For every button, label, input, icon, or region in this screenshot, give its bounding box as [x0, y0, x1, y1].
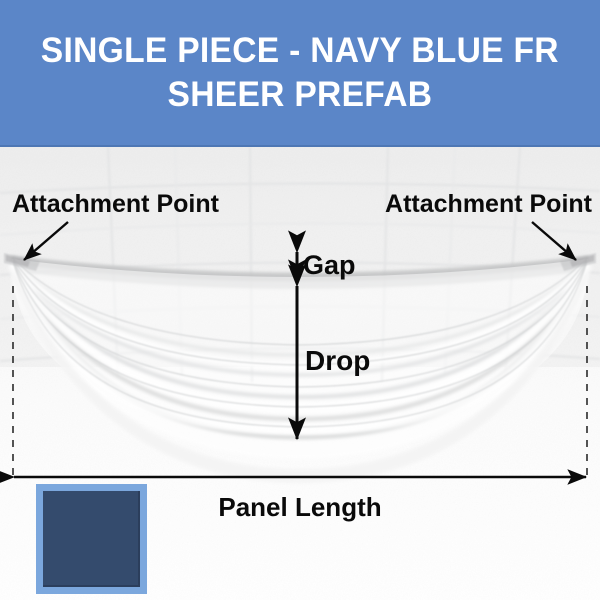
label-attachment-point-right: Attachment Point [385, 190, 592, 219]
label-drop: Drop [305, 345, 370, 377]
product-diagram-page: SINGLE PIECE - NAVY BLUE FR SHEER PREFAB [0, 0, 600, 600]
swatch-fill [43, 491, 140, 587]
page-title-line-1: SINGLE PIECE - NAVY BLUE FR [41, 29, 559, 73]
label-attachment-point-left: Attachment Point [12, 190, 219, 219]
navy-blue-fabric-swatch [36, 484, 147, 594]
header-banner: SINGLE PIECE - NAVY BLUE FR SHEER PREFAB [0, 0, 600, 147]
label-gap: Gap [303, 250, 356, 281]
page-title-line-2: SHEER PREFAB [168, 73, 433, 117]
